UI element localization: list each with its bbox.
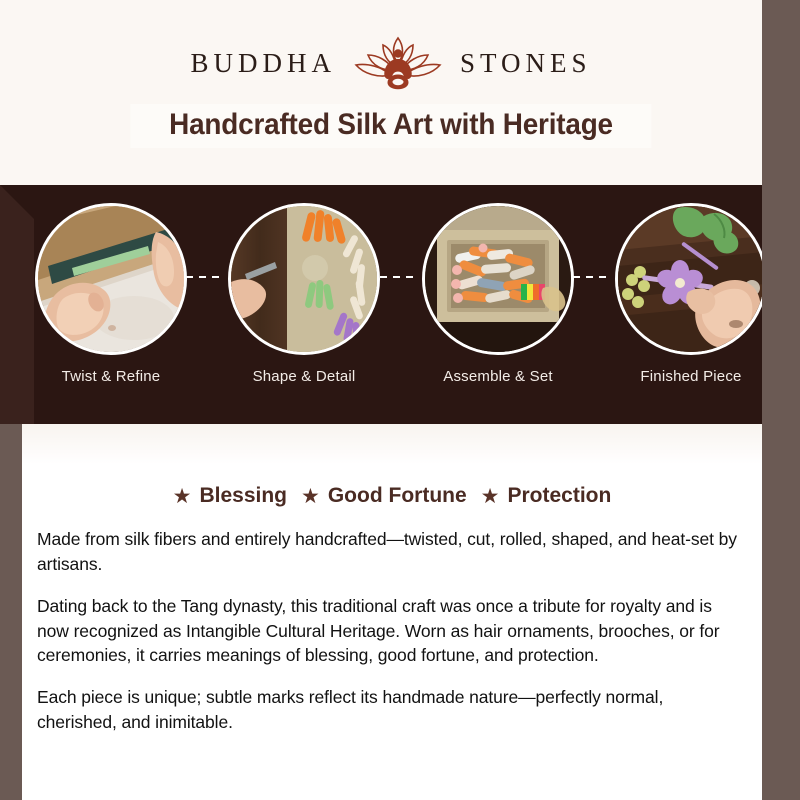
step-photo-twist-refine (35, 203, 187, 355)
brand-name-right: STONES (460, 48, 592, 79)
brand-logo: BUDDHA (22, 34, 760, 92)
description-paragraph: Made from silk fibers and entirely handc… (37, 527, 740, 577)
frame-edge-right-top (762, 0, 800, 186)
process-step: Finished Piece (611, 203, 771, 385)
process-step: Twist & Refine (31, 203, 191, 385)
process-band: Twist & Refine (0, 185, 800, 424)
step-photo-finished-piece (615, 203, 767, 355)
frame-edge-right (762, 186, 800, 800)
page-title: Handcrafted Silk Art with Heritage (169, 108, 613, 142)
frame-edge-left (0, 424, 22, 800)
brand-name-left: BUDDHA (190, 48, 336, 79)
description-paragraph: Dating back to the Tang dynasty, this tr… (37, 594, 740, 669)
description-paragraph: Each piece is unique; subtle marks refle… (37, 685, 740, 735)
feature-label: Good Fortune (328, 484, 467, 508)
description-section: ★ Blessing ★ Good Fortune ★ Protection M… (22, 424, 762, 800)
header-panel: BUDDHA (22, 0, 760, 186)
description-paragraphs: Made from silk fibers and entirely handc… (37, 527, 740, 735)
step-label: Finished Piece (611, 368, 771, 385)
lotus-meditation-icon (350, 34, 446, 92)
feature-label: Protection (507, 484, 611, 508)
feature-badges: ★ Blessing ★ Good Fortune ★ Protection (22, 484, 762, 508)
body-top-fade (22, 424, 762, 464)
feature-badge: ★ Protection (481, 484, 612, 508)
feature-label: Blessing (199, 484, 287, 508)
feature-badge: ★ Good Fortune (301, 484, 467, 508)
header-section: BUDDHA (0, 0, 800, 186)
step-photo-assemble-set (422, 203, 574, 355)
step-label: Twist & Refine (31, 368, 191, 385)
page-title-box: Handcrafted Silk Art with Heritage (130, 104, 651, 148)
product-infographic: BUDDHA (0, 0, 800, 800)
feature-badge: ★ Blessing (173, 484, 287, 508)
star-icon: ★ (481, 486, 500, 507)
star-icon: ★ (301, 486, 320, 507)
header-left-mask (0, 0, 22, 186)
star-icon: ★ (173, 486, 192, 507)
process-step: Shape & Detail (224, 203, 384, 385)
process-step: Assemble & Set (418, 203, 578, 385)
step-label: Assemble & Set (418, 368, 578, 385)
process-steps: Twist & Refine (0, 185, 800, 424)
step-photo-shape-detail (228, 203, 380, 355)
step-label: Shape & Detail (224, 368, 384, 385)
